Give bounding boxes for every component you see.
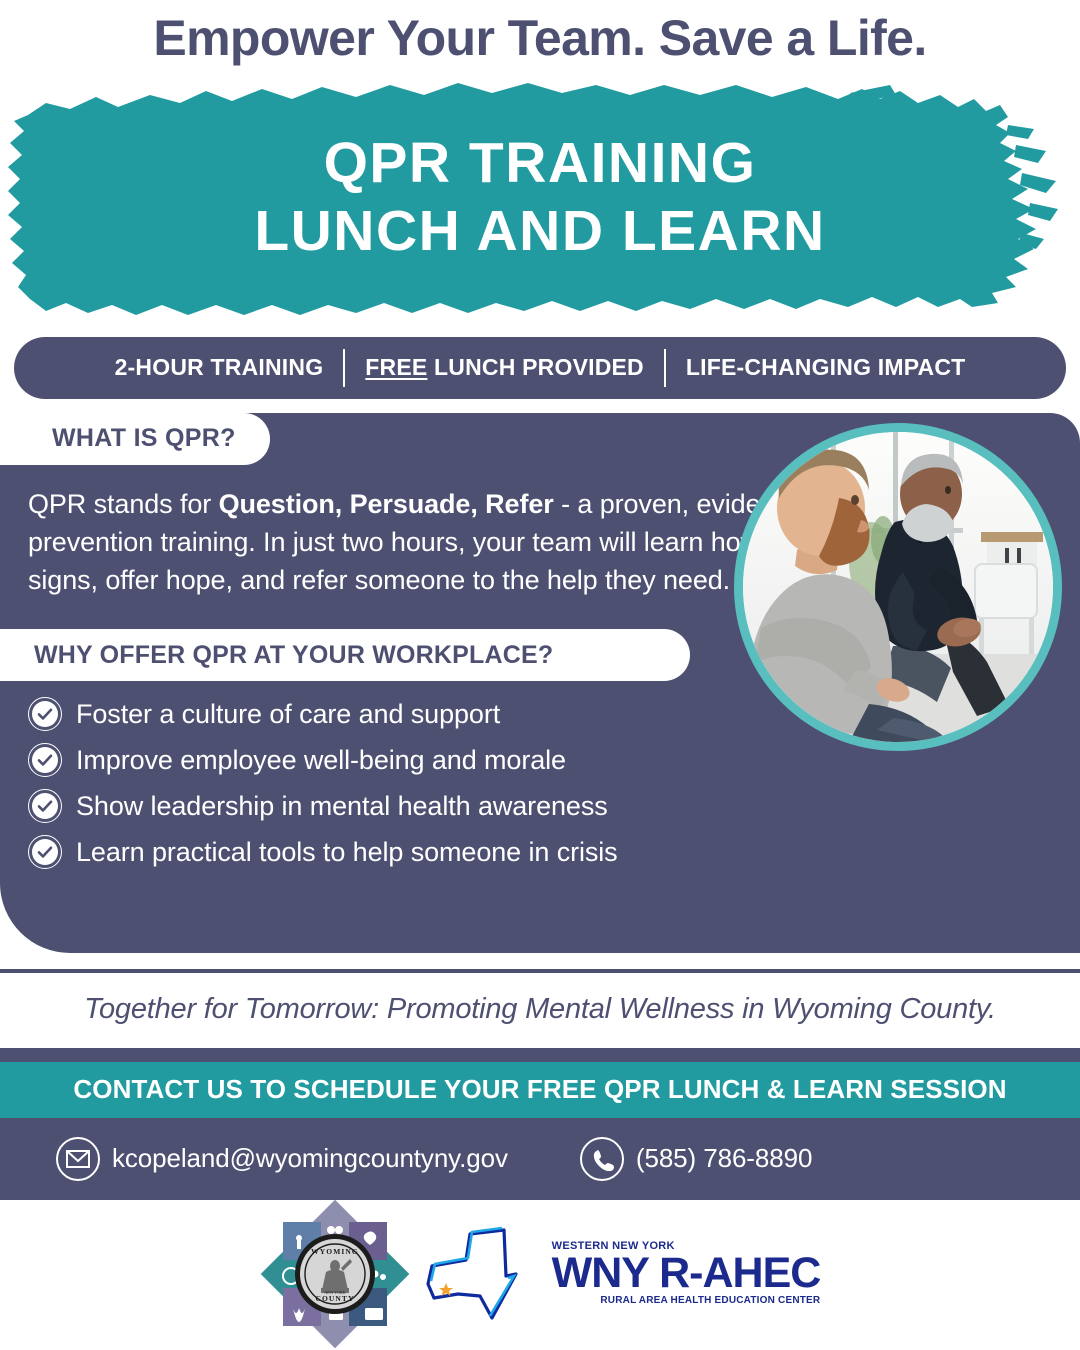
badge-free-lunch: FREE LUNCH PROVIDED [345, 354, 664, 381]
what-is-qpr-label: WHAT IS QPR? [52, 424, 236, 453]
feature-badge-bar: 2-HOUR TRAINING FREE LUNCH PROVIDED LIFE… [14, 337, 1066, 399]
check-circle-icon [28, 789, 62, 823]
check-circle-icon [28, 697, 62, 731]
contact-top-band [0, 1048, 1080, 1062]
ahec-sub-label: RURAL AREA HEALTH EDUCATION CENTER [552, 1296, 821, 1306]
email-value: kcopeland@wyomingcountyny.gov [112, 1143, 508, 1174]
envelope-icon [56, 1137, 100, 1181]
phone-value: (585) 786-8890 [636, 1143, 812, 1174]
about-lead: QPR stands for [28, 489, 219, 519]
svg-text:COUNTY: COUNTY [315, 1294, 354, 1303]
list-item: Show leadership in mental health awarene… [28, 789, 1080, 823]
badge-free-rest: LUNCH PROVIDED [427, 354, 643, 380]
counseling-photo [734, 423, 1062, 751]
wny-rahec-logo: WESTERN NEW YORK WNY R-AHEC RURAL AREA H… [420, 1222, 821, 1326]
main-content-panel: WHAT IS QPR? QPR stands for Question, Pe… [0, 413, 1080, 953]
check-circle-icon [28, 743, 62, 777]
new-york-state-outline-icon [420, 1222, 548, 1326]
logo-footer: WYOMING COUNTY NEW YORK WESTERN NEW YORK… [0, 1200, 1080, 1348]
hero-text-block: QPR TRAINING LUNCH AND LEARN [0, 73, 1080, 323]
contact-banner-label: CONTACT US TO SCHEDULE YOUR FREE QPR LUN… [73, 1074, 1006, 1105]
badge-impact: LIFE-CHANGING IMPACT [666, 354, 986, 381]
photo-illustration [743, 432, 1053, 742]
list-item: Learn practical tools to help someone in… [28, 835, 1080, 869]
svg-text:NEW YORK: NEW YORK [324, 1290, 345, 1295]
tagline: Together for Tomorrow: Promoting Mental … [0, 973, 1080, 1048]
ahec-main-label: WNY R-AHEC [552, 1253, 821, 1294]
check-circle-icon [28, 835, 62, 869]
email-contact[interactable]: kcopeland@wyomingcountyny.gov [56, 1137, 508, 1181]
page-title: Empower Your Team. Save a Life. [0, 0, 1080, 65]
contact-banner: CONTACT US TO SCHEDULE YOUR FREE QPR LUN… [0, 1062, 1080, 1118]
what-is-qpr-tab: WHAT IS QPR? [0, 413, 270, 465]
why-offer-qpr-tab: WHY OFFER QPR AT YOUR WORKPLACE? [0, 629, 690, 681]
badge-free-emphasis: FREE [365, 354, 427, 380]
contact-details: kcopeland@wyomingcountyny.gov (585) 786-… [0, 1118, 1080, 1200]
benefit-label: Learn practical tools to help someone in… [76, 837, 618, 868]
hero-banner: QPR TRAINING LUNCH AND LEARN [0, 73, 1080, 323]
about-bold: Question, Persuade, Refer [219, 489, 554, 519]
svg-text:WYOMING: WYOMING [311, 1247, 359, 1256]
why-offer-qpr-label: WHY OFFER QPR AT YOUR WORKPLACE? [34, 641, 553, 670]
phone-contact[interactable]: (585) 786-8890 [580, 1137, 812, 1181]
badge-duration: 2-HOUR TRAINING [95, 354, 344, 381]
wyoming-county-seal-logo: WYOMING COUNTY NEW YORK [260, 1200, 410, 1348]
benefit-label: Improve employee well-being and morale [76, 745, 566, 776]
benefit-label: Show leadership in mental health awarene… [76, 791, 608, 822]
hero-line-2: LUNCH AND LEARN [254, 201, 825, 263]
benefit-label: Foster a culture of care and support [76, 699, 500, 730]
hero-line-1: QPR TRAINING [324, 133, 757, 195]
phone-icon [580, 1137, 624, 1181]
